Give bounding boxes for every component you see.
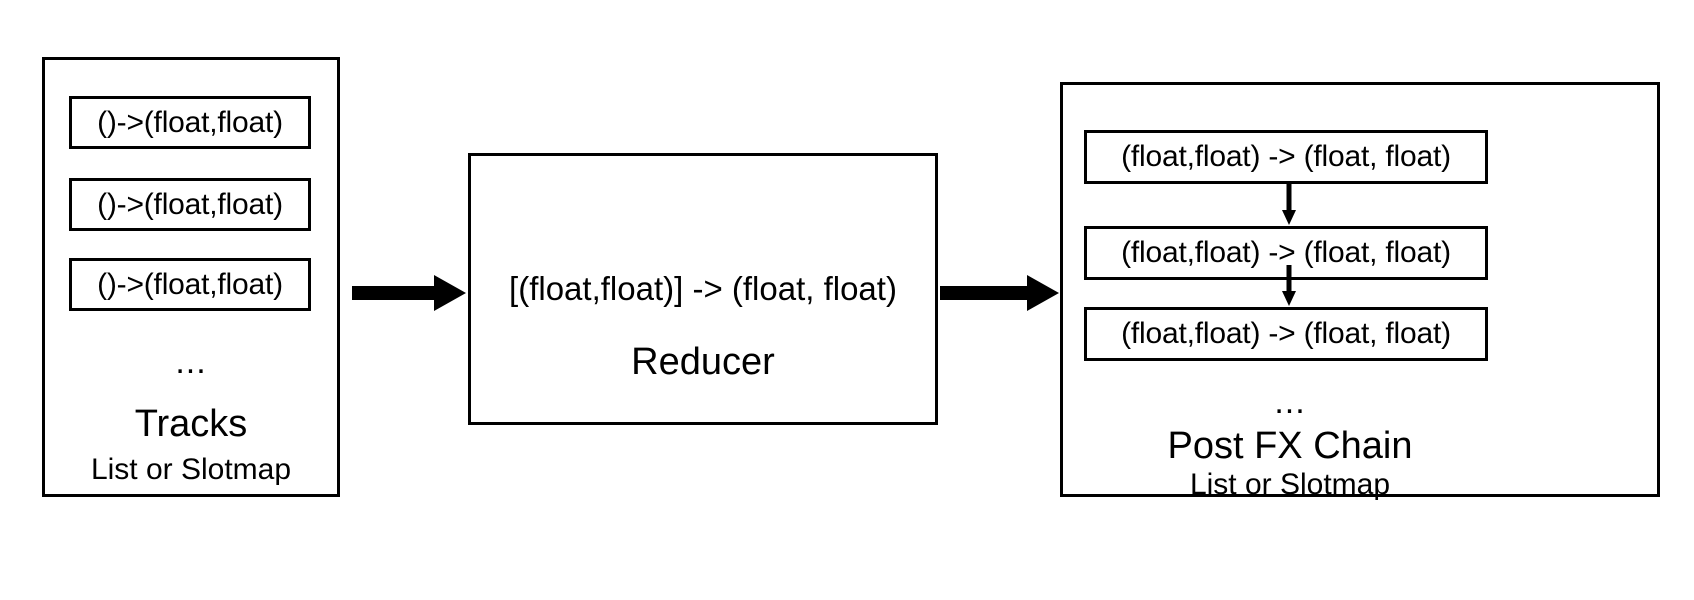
track-item-2[interactable]: ()->(float,float) bbox=[69, 178, 311, 231]
reducer-signature: [(float,float)] -> (float, float) bbox=[468, 272, 938, 305]
arrow-reducer-to-postfx bbox=[940, 273, 1060, 313]
track-item-3-label: ()->(float,float) bbox=[97, 270, 283, 300]
diagram-canvas: ()->(float,float) ()->(float,float) ()->… bbox=[0, 0, 1694, 600]
tracks-title: Tracks bbox=[42, 405, 340, 443]
chain-link-1-arrow bbox=[1278, 184, 1300, 226]
track-item-1[interactable]: ()->(float,float) bbox=[69, 96, 311, 149]
track-item-2-label: ()->(float,float) bbox=[97, 190, 283, 220]
postfx-subtitle: List or Slotmap bbox=[1060, 470, 1520, 500]
postfx-item-2-label: (float,float) -> (float, float) bbox=[1121, 238, 1451, 268]
postfx-item-3[interactable]: (float,float) -> (float, float) bbox=[1084, 307, 1488, 361]
tracks-ellipsis: ... bbox=[42, 345, 340, 379]
postfx-item-3-label: (float,float) -> (float, float) bbox=[1121, 319, 1451, 349]
postfx-ellipsis: ... bbox=[1060, 385, 1520, 419]
postfx-title: Post FX Chain bbox=[1060, 427, 1520, 465]
postfx-item-1-label: (float,float) -> (float, float) bbox=[1121, 142, 1451, 172]
postfx-item-1[interactable]: (float,float) -> (float, float) bbox=[1084, 130, 1488, 184]
reducer-title: Reducer bbox=[468, 343, 938, 381]
track-item-1-label: ()->(float,float) bbox=[97, 108, 283, 138]
chain-link-2-arrow bbox=[1278, 265, 1300, 307]
track-item-3[interactable]: ()->(float,float) bbox=[69, 258, 311, 311]
tracks-subtitle: List or Slotmap bbox=[42, 455, 340, 485]
arrow-tracks-to-reducer bbox=[352, 273, 467, 313]
